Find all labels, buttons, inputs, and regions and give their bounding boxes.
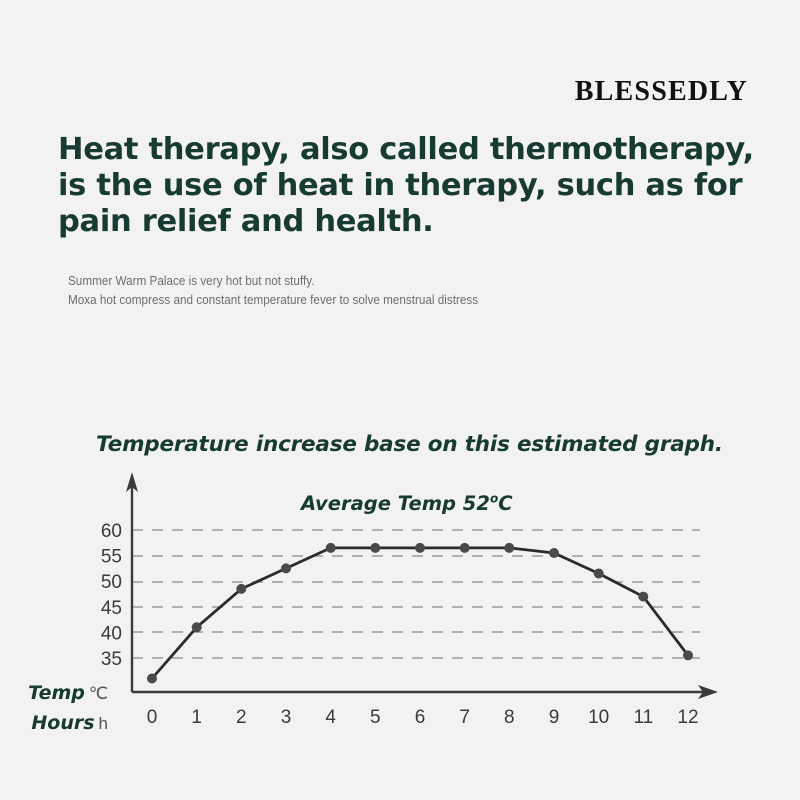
data-point (683, 650, 693, 660)
x-tick-label: 12 (677, 707, 698, 728)
x-tick-label: 9 (549, 707, 560, 728)
data-point (147, 674, 157, 684)
x-tick-label: 1 (191, 707, 202, 728)
y-axis-label: Temp℃ (18, 682, 108, 704)
headline-line-1: Heat therapy, also called thermotherapy, (58, 132, 758, 168)
x-tick-label: 5 (370, 707, 381, 728)
x-tick-label: 3 (281, 707, 292, 728)
headline-line-2: is the use of heat in therapy, such as f… (58, 168, 758, 204)
data-point (504, 543, 514, 553)
headline-line-3: pain relief and health. (58, 204, 758, 240)
page-subtitle: Summer Warm Palace is very hot but not s… (68, 272, 682, 310)
data-point (236, 584, 246, 594)
data-point (326, 543, 336, 553)
y-tick-label: 40 (101, 623, 122, 644)
y-axis-label-text: Temp (28, 682, 85, 704)
x-axis-label: Hoursh (18, 712, 108, 734)
x-tick-label: 7 (459, 707, 470, 728)
data-point (415, 543, 425, 553)
y-tick-label: 60 (101, 521, 122, 542)
x-axis-label-text: Hours (31, 712, 94, 734)
x-axis-unit: h (99, 714, 108, 733)
x-tick-label: 0 (147, 707, 158, 728)
temperature-line (152, 548, 688, 679)
subtitle-line-1: Summer Warm Palace is very hot but not s… (68, 272, 682, 291)
data-point (638, 592, 648, 602)
x-axis-tick-labels: 0123456789101112 (147, 707, 699, 728)
y-tick-label: 45 (101, 598, 122, 619)
data-point (549, 548, 559, 558)
data-point (460, 543, 470, 553)
y-tick-label: 50 (101, 572, 122, 593)
data-point (370, 543, 380, 553)
y-tick-label: 35 (101, 649, 122, 670)
y-tick-label: 55 (101, 547, 122, 568)
chart-plot-area: 354045505560 0123456789101112 (0, 420, 800, 760)
x-tick-label: 2 (236, 707, 247, 728)
temperature-data-points (147, 543, 693, 684)
x-tick-label: 8 (504, 707, 515, 728)
x-tick-label: 10 (588, 707, 609, 728)
x-tick-label: 4 (325, 707, 336, 728)
x-tick-label: 11 (633, 707, 653, 728)
subtitle-line-2: Moxa hot compress and constant temperatu… (68, 291, 682, 310)
data-point (281, 563, 291, 573)
y-axis-unit: ℃ (89, 684, 108, 703)
x-tick-label: 6 (415, 707, 426, 728)
y-axis-tick-labels: 354045505560 (101, 521, 122, 670)
temperature-chart: Temperature increase base on this estima… (0, 420, 800, 760)
brand-logo: BLESSEDLY (575, 76, 748, 108)
page-headline: Heat therapy, also called thermotherapy,… (58, 132, 758, 240)
data-point (594, 569, 604, 579)
data-point (192, 622, 202, 632)
